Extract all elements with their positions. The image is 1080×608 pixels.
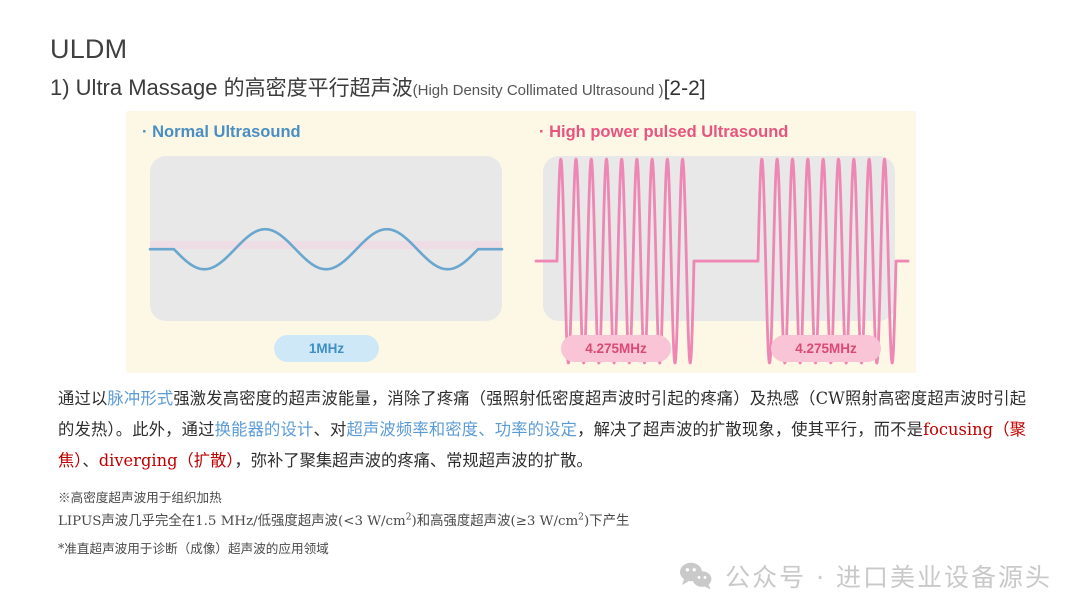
frequency-badge-normal: 1MHz [274, 335, 379, 362]
footnote-line-1: ※高密度超声波用于组织加热 [58, 487, 222, 506]
bullet-dot-icon: · [142, 123, 148, 141]
frequency-badge-pulse-1: 4.275MHz [561, 335, 671, 362]
subtitle-prefix: 1) Ultra Massage [50, 75, 224, 100]
normal-ultrasound-heading: · Normal Ultrasound [142, 123, 301, 142]
body-segment-10: ，弥补了聚集超声波的疼痛、常规超声波的扩散。 [234, 451, 592, 470]
body-segment-9: diverging（扩散） [99, 451, 235, 470]
normal-ultrasound-label: Normal Ultrasound [152, 123, 301, 141]
body-segment-5: 超声波频率和密度、功率的设定 [346, 420, 577, 439]
body-segment-6: ，解决了超声波的扩散现象，使其平行，而不是 [577, 420, 923, 439]
footnote-line-2: LIPUS声波几乎完全在1.5 MHz/低强度超声波(<3 W/cm2)和高强度… [58, 509, 629, 529]
watermark: 公众号 · 进口美业设备源头 [679, 558, 1052, 594]
pulsed-waveform-line [536, 131, 908, 346]
subtitle-chinese: 的高密度平行超声波 [224, 76, 413, 100]
figure-panel: · Normal Ultrasound 1MHz · High power pu… [126, 111, 916, 373]
normal-waveform-line [150, 156, 502, 321]
footnote-2-part-3: )下产生 [584, 514, 629, 529]
footnote-2-part-1: LIPUS声波几乎完全在1.5 MHz/低强度超声波(<3 W/cm [58, 514, 406, 529]
body-segment-0: 通过以 [58, 389, 107, 408]
frequency-badge-pulse-2: 4.275MHz [771, 335, 881, 362]
wechat-icon [679, 561, 713, 591]
subtitle-reference: [2-2] [664, 77, 706, 100]
footnote-line-3: *准直超声波用于诊断（成像）超声波的应用领域 [58, 538, 329, 557]
body-segment-1: 脉冲形式 [107, 389, 173, 408]
body-paragraph: 通过以脉冲形式强激发高密度的超声波能量，消除了疼痛（强照射低密度超声波时引起的疼… [58, 383, 1026, 476]
page-title: ULDM [50, 34, 127, 65]
footnote-2-part-2: )和高强度超声波(≥3 W/cm [412, 514, 579, 529]
watermark-text: 公众号 · 进口美业设备源头 [725, 558, 1052, 594]
body-segment-3: 换能器的设计 [215, 420, 314, 439]
body-segment-8: 、 [82, 451, 98, 470]
body-segment-4: 、对 [313, 420, 346, 439]
subtitle-parenthetical: (High Density Collimated Ultrasound ) [413, 82, 664, 99]
page-subtitle: 1) Ultra Massage 的高密度平行超声波(High Density … [50, 72, 706, 102]
